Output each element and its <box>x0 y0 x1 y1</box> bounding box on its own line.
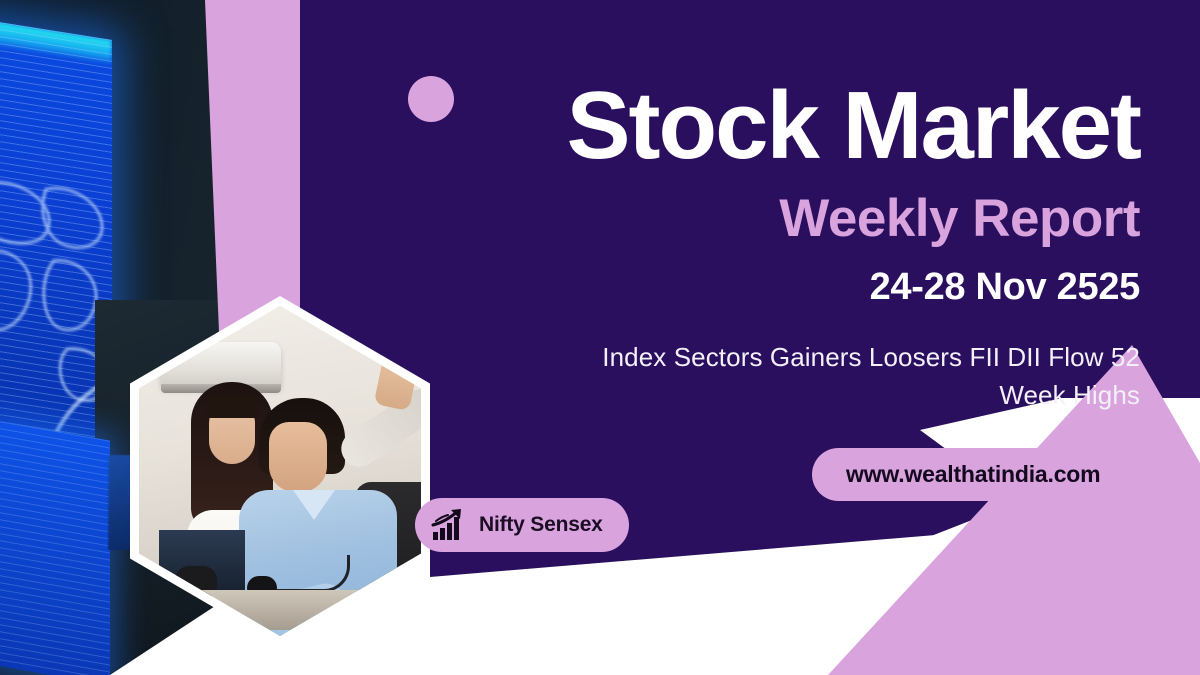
secondary-monitor-scanlines <box>0 419 110 675</box>
cable <box>267 555 350 592</box>
date-range-label: 24-28 Nov 2525 <box>400 264 1140 310</box>
topics-description: Index Sectors Gainers Loosers FII DII Fl… <box>600 338 1140 414</box>
poster-canvas: Stock Market Weekly Report 24-28 Nov 252… <box>0 0 1200 675</box>
headline-block: Stock Market Weekly Report 24-28 Nov 252… <box>400 72 1140 414</box>
title-row: Stock Market <box>400 72 1140 182</box>
page-title: Stock Market <box>400 72 1140 180</box>
nifty-sensex-label: Nifty Sensex <box>479 513 603 537</box>
hexagon-photo-frame <box>130 296 430 646</box>
bar-chart-growth-arrow-icon <box>431 508 467 542</box>
website-url-badge[interactable]: www.wealthatindia.com <box>812 448 1134 501</box>
page-subtitle: Weekly Report <box>400 188 1140 250</box>
nifty-sensex-badge[interactable]: Nifty Sensex <box>415 498 629 552</box>
male-face <box>269 422 327 492</box>
secondary-monitor <box>0 419 110 675</box>
